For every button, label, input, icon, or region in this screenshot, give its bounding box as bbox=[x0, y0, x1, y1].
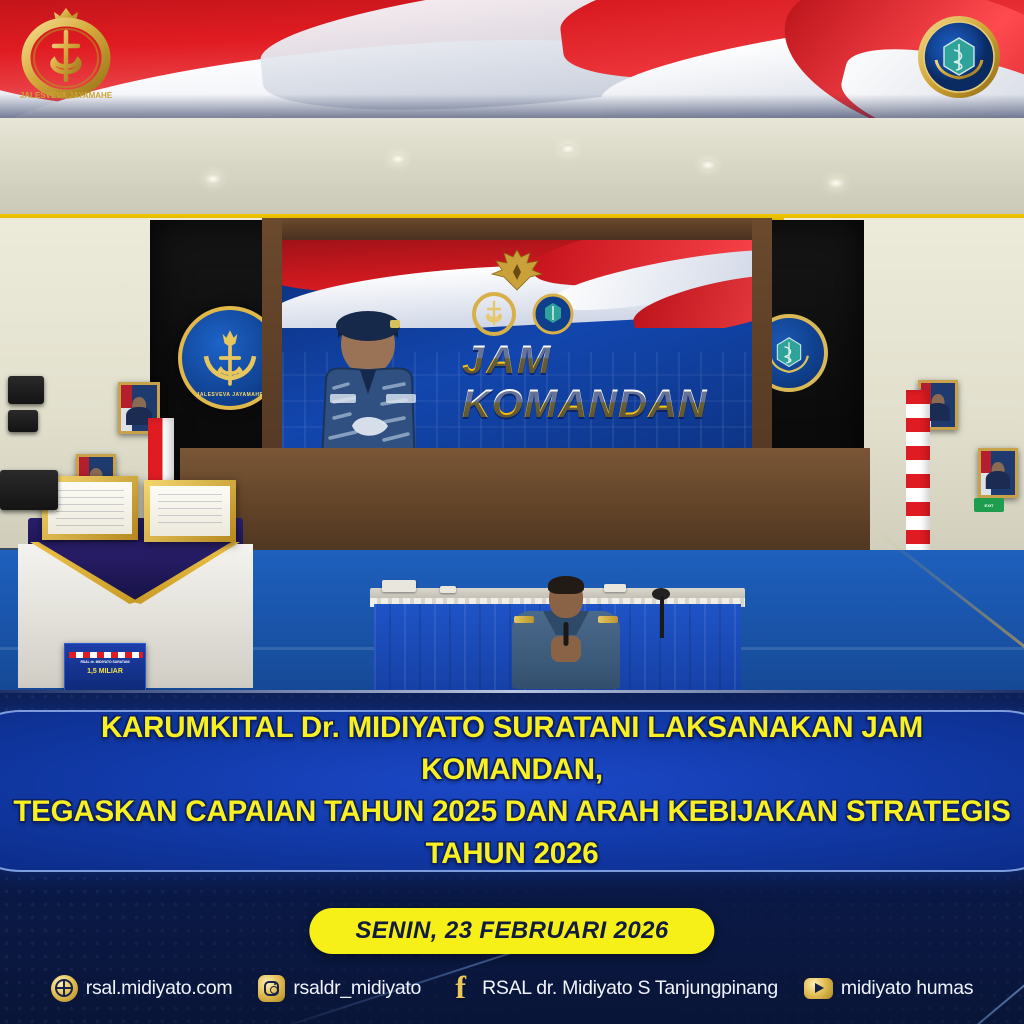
headline-line-1: KARUMKITAL Dr. MIDIYATO SURATANI LAKSANA… bbox=[7, 707, 1017, 791]
screen-title-komandan: KOMANDAN bbox=[462, 384, 752, 424]
garuda-icon bbox=[486, 244, 548, 296]
tni-al-emblem-icon: JALESVEVA JAYAMAHE bbox=[20, 6, 112, 110]
placard-heading: RSAL dr. MIDIYATO SURATANI bbox=[65, 660, 145, 664]
headline-line-2: TEGASKAN CAPAIAN TAHUN 2025 DAN ARAH KEB… bbox=[7, 791, 1017, 875]
audio-mixer-rack bbox=[0, 470, 58, 510]
youtube-icon bbox=[804, 978, 833, 999]
footer-label-facebook: RSAL dr. Midiyato S Tanjungpinang bbox=[482, 977, 778, 1000]
screen-title: JAM KOMANDAN bbox=[462, 340, 752, 424]
screen-title-jam: JAM bbox=[462, 340, 752, 380]
ceiling-light bbox=[828, 178, 844, 188]
footer-item-instagram[interactable]: rsaldr_midiyato bbox=[258, 975, 421, 1002]
screen-tni-al-logo-icon bbox=[472, 292, 516, 336]
exit-sign: EXIT bbox=[974, 498, 1004, 512]
footer-label-youtube: midiyato humas bbox=[841, 977, 973, 1000]
lower-text-section: KARUMKITAL Dr. MIDIYATO SURATANI LAKSANA… bbox=[0, 690, 1024, 1024]
footer-item-website[interactable]: rsal.midiyato.com bbox=[51, 975, 233, 1002]
screen-frame-top bbox=[262, 218, 772, 240]
ceiling-light bbox=[700, 160, 716, 170]
wall-speaker-left-2 bbox=[8, 410, 38, 432]
speaking-officer bbox=[510, 578, 622, 688]
banner-bottom-shadow bbox=[0, 94, 1024, 120]
flag-banner: JALESVEVA JAYAMAHE bbox=[0, 0, 1024, 120]
facebook-icon: f bbox=[447, 975, 474, 1002]
event-photo: JALESVEVA JAYAMAHE bbox=[0, 118, 1024, 690]
footer-social-bar: rsal.midiyato.com rsaldr_midiyato f RSAL… bbox=[0, 968, 1024, 1008]
screen-hospital-logo-icon bbox=[532, 293, 574, 335]
certificate-display-table: RSAL dr. MIDIYATO SURATANI 1,5 MILIAR bbox=[8, 518, 258, 688]
headline-box: KARUMKITAL Dr. MIDIYATO SURATANI LAKSANA… bbox=[0, 710, 1024, 872]
placard-amount: 1,5 MILIAR bbox=[65, 668, 145, 675]
achievement-placard: RSAL dr. MIDIYATO SURATANI 1,5 MILIAR bbox=[64, 643, 146, 690]
table-item-book bbox=[382, 580, 416, 592]
footer-item-facebook[interactable]: f RSAL dr. Midiyato S Tanjungpinang bbox=[447, 975, 778, 1002]
footer-label-website: rsal.midiyato.com bbox=[86, 977, 233, 1000]
footer-item-youtube[interactable]: midiyato humas bbox=[804, 977, 973, 1000]
globe-icon bbox=[51, 975, 78, 1002]
ceiling bbox=[0, 118, 1024, 228]
ceiling-light bbox=[390, 154, 406, 164]
ceiling-light bbox=[560, 144, 576, 154]
microphone-stand bbox=[660, 596, 664, 638]
poster-root: JALESVEVA JAYAMAHE bbox=[0, 0, 1024, 1024]
portrait-officer-right bbox=[978, 448, 1018, 498]
ceiling-light bbox=[205, 174, 221, 184]
certificate-frame-2 bbox=[144, 480, 236, 542]
date-badge: SENIN, 23 FEBRUARI 2026 bbox=[309, 908, 714, 954]
screen-logos bbox=[472, 292, 574, 336]
instagram-icon bbox=[258, 975, 285, 1002]
table-item-card bbox=[440, 586, 456, 593]
tni-al-motto: JALESVEVA JAYAMAHE bbox=[20, 91, 112, 100]
footer-label-instagram: rsaldr_midiyato bbox=[293, 977, 421, 1000]
rsal-hospital-emblem-icon bbox=[916, 14, 1002, 100]
wall-speaker-left bbox=[8, 376, 44, 404]
